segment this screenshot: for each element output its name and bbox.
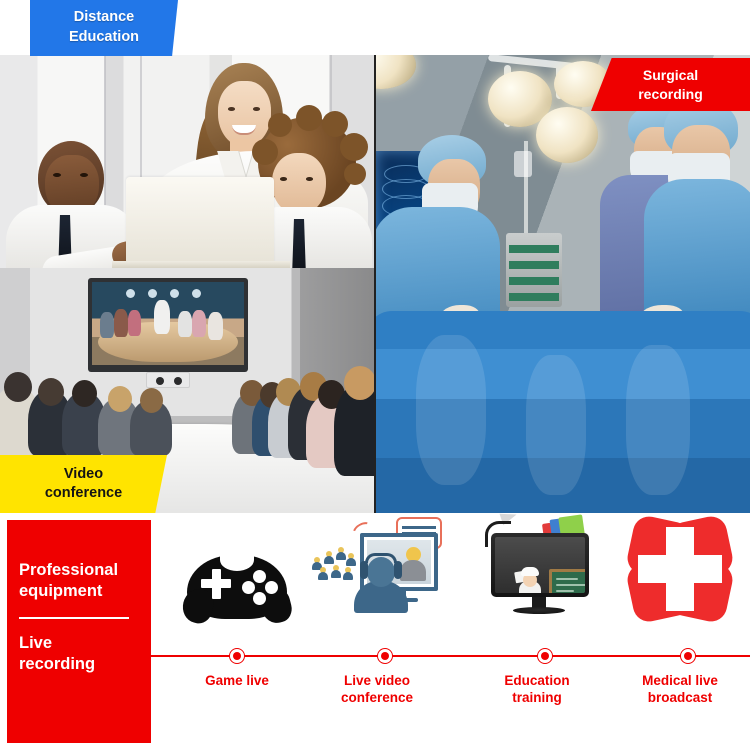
badge-video-conference-line2: conference (45, 484, 122, 503)
badge-distance-education-line1: Distance (74, 8, 134, 28)
photo-mosaic (0, 55, 750, 513)
timeline-dot-education-training[interactable] (537, 648, 553, 664)
student-right-tie (292, 219, 306, 268)
scenario-label-game-live: Game live (162, 673, 312, 690)
badge-distance-education-line2: Education (69, 28, 139, 48)
product-feature-collage: Distance Education (0, 0, 750, 750)
panel-professional-equipment: Professional equipment Live recording (7, 520, 151, 743)
scenario-label-live-video-conference: Live video conference (302, 673, 452, 707)
panel-title-professional-equipment: Professional equipment (19, 560, 151, 603)
education-monitor-icon (479, 511, 595, 619)
monitor-screen (495, 537, 585, 593)
badge-video-conference: Video conference (0, 455, 167, 513)
scenario-medical-live-broadcast[interactable]: Medical live broadcast (605, 513, 750, 625)
panel-divider (19, 617, 129, 619)
timeline-dot-game-live[interactable] (229, 648, 245, 664)
panel-line-2: equipment (19, 581, 151, 602)
laptop-base (112, 261, 290, 268)
panel-title-live-recording: Live recording (19, 633, 151, 676)
camera-mount (146, 372, 190, 388)
photo-classroom-distance-education (0, 55, 374, 268)
label-line-1: Live video (302, 673, 452, 690)
badge-surgical-recording-line2: recording (638, 85, 703, 104)
wall-display-screen (92, 282, 244, 365)
surgical-lamp (536, 107, 598, 163)
scenario-label-education-training: Education training (462, 673, 612, 707)
scenario-education-training[interactable]: Education training (462, 513, 612, 625)
badge-surgical-recording-line1: Surgical (643, 66, 698, 85)
medical-cross-icon (630, 519, 730, 619)
label-line-2: conference (302, 690, 452, 707)
label-line-2: training (462, 690, 612, 707)
presenter-headset-icon (354, 553, 408, 611)
panel-line-3: Live (19, 633, 151, 654)
label-line-1: Game live (162, 673, 312, 690)
badge-video-conference-line1: Video (64, 465, 103, 484)
video-conference-icon (312, 517, 442, 619)
scenario-game-live[interactable]: Game live (162, 513, 312, 625)
conference-camera-lens-2 (174, 377, 182, 385)
label-line-2: broadcast (605, 690, 750, 707)
laptop-lid (126, 177, 274, 268)
teacher-face (218, 81, 271, 147)
label-line-1: Education (462, 673, 612, 690)
panel-line-1: Professional (19, 560, 151, 581)
badge-distance-education: Distance Education (30, 0, 178, 56)
timeline-dot-medical-live-broadcast[interactable] (680, 648, 696, 664)
photo-operating-room (376, 55, 750, 513)
application-scenarios-section: Professional equipment Live recording (0, 513, 750, 750)
badge-surgical-recording: Surgical recording (591, 58, 750, 111)
timeline-dot-live-video-conference[interactable] (377, 648, 393, 664)
audience-group-icon (312, 543, 356, 581)
chalkboard-icon (549, 569, 585, 593)
panel-line-4: recording (19, 654, 151, 675)
scenario-timeline-axis (151, 655, 750, 657)
scenario-label-medical-live-broadcast: Medical live broadcast (605, 673, 750, 707)
scenario-live-video-conference[interactable]: Live video conference (302, 513, 452, 625)
gamepad-icon (187, 549, 287, 619)
label-line-1: Medical live (605, 673, 750, 690)
conference-camera-lens (156, 377, 164, 385)
